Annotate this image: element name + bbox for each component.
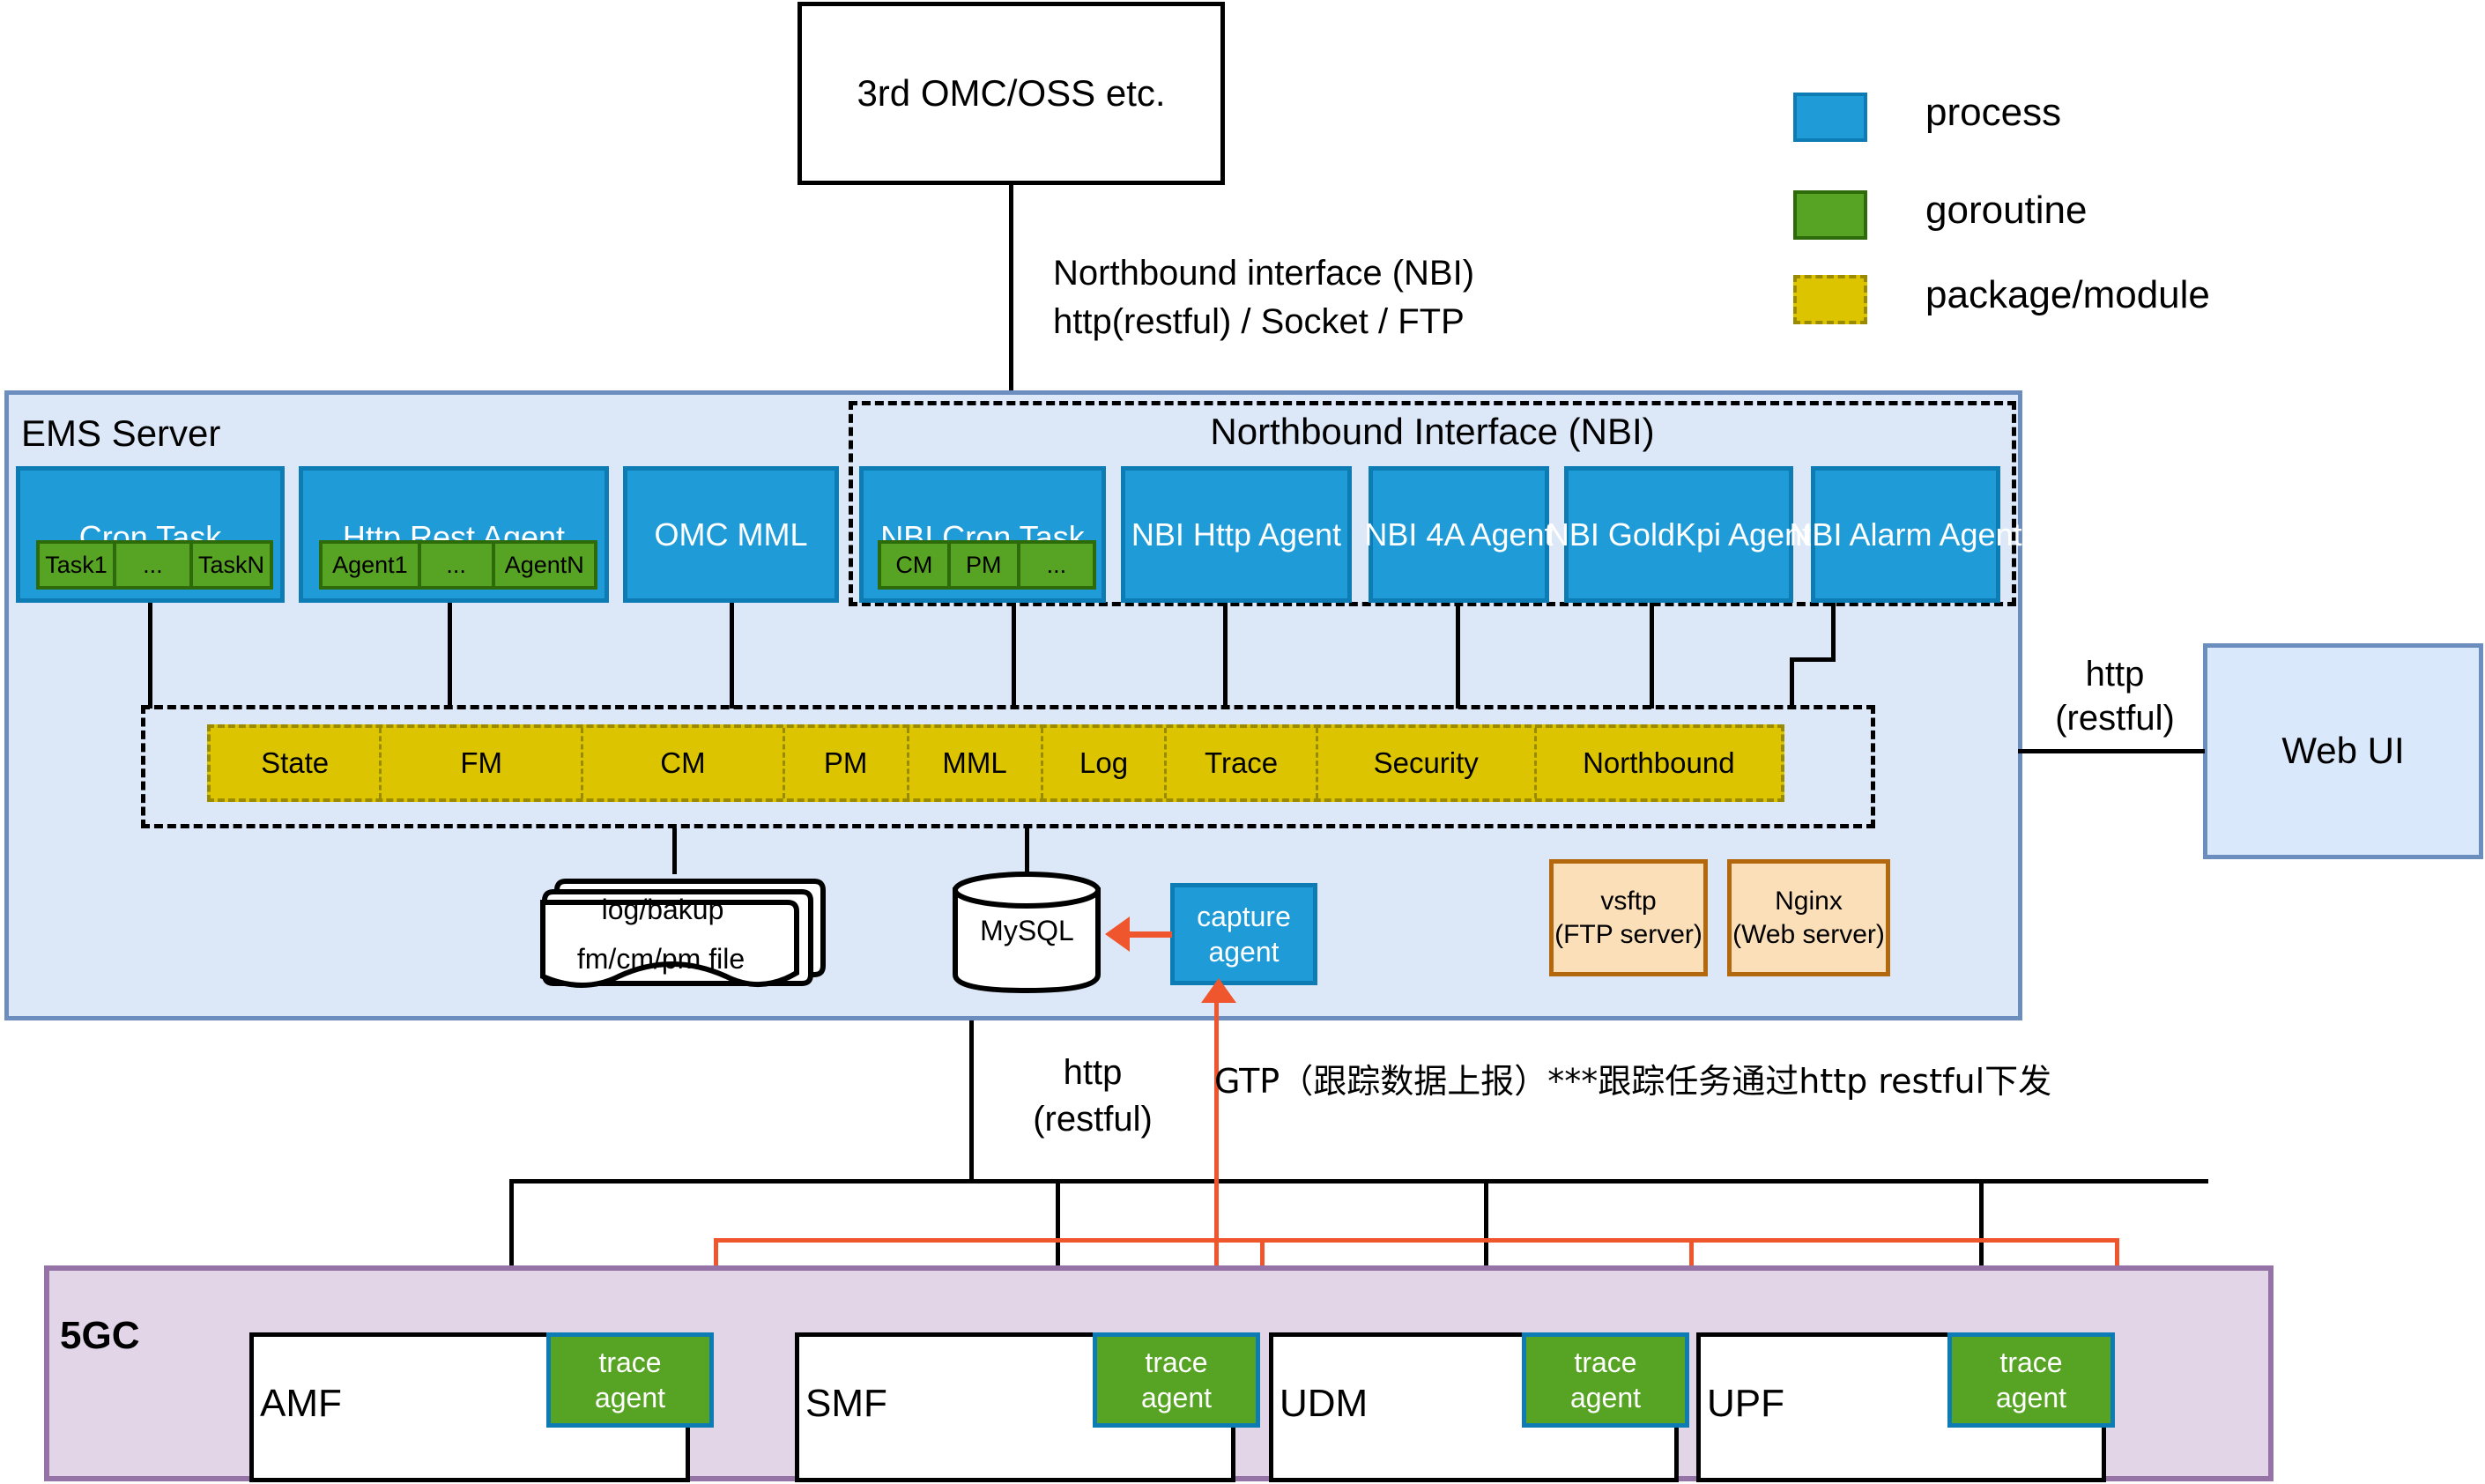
capture-agent-to-database-arrow-line <box>1130 931 1172 938</box>
goroutine-group-http-rest-agent: Agent1 ... AgentN <box>319 540 597 590</box>
trace-agent-smf-line1: trace <box>1145 1345 1207 1380</box>
connector-nbi-alarm-agent-seg2 <box>1790 657 1836 662</box>
process-nbi-alarm-agent[interactable]: NBI Alarm Agent <box>1811 466 2000 603</box>
trace-agent-udm-line2: agent <box>1570 1380 1641 1415</box>
webui-link-label-line2: (restful) <box>2027 696 2203 740</box>
module-cm[interactable]: CM <box>583 728 785 798</box>
oss-to-ems-connector <box>1009 185 1013 392</box>
module-bar: State FM CM PM MML Log Trace Security No… <box>207 724 1784 802</box>
connector-nbi-goldkpi-agent <box>1650 603 1654 709</box>
process-nbi-4a-agent[interactable]: NBI 4A Agent <box>1369 466 1549 603</box>
gtp-note-label: GTP（跟踪数据上报）***跟踪任务通过http restful下发 <box>1214 1061 2051 1103</box>
nf-label-amf: AMF <box>260 1379 342 1428</box>
goroutine-agentn[interactable]: AgentN <box>495 540 598 590</box>
legend: process goroutine package/module <box>1793 93 2340 335</box>
architecture-diagram: 3rd OMC/OSS etc. Northbound interface (N… <box>0 0 2485 1484</box>
ems-to-webui-connector <box>2018 749 2205 753</box>
goroutine-group-cron-task: Task1 ... TaskN <box>36 540 273 590</box>
module-trace[interactable]: Trace <box>1167 728 1317 798</box>
trace-agent-amf-line2: agent <box>595 1380 665 1415</box>
core-bus-horizontal <box>509 1179 2208 1183</box>
server-vsftp-line2: (FTP server) <box>1554 918 1702 952</box>
module-fm[interactable]: FM <box>382 728 583 798</box>
goroutine-cm[interactable]: CM <box>878 540 951 590</box>
process-nbi-goldkpi-agent-label: NBI GoldKpi Agent <box>1547 515 1811 554</box>
module-log[interactable]: Log <box>1043 728 1168 798</box>
server-vsftp[interactable]: vsftp (FTP server) <box>1549 859 1708 976</box>
nbi-group-title: Northbound Interface (NBI) <box>849 411 2016 453</box>
webui-link-label-line1: http <box>2027 652 2203 696</box>
legend-swatch-process <box>1793 93 1867 142</box>
legend-label-process: process <box>1925 88 2061 137</box>
connector-nbi-alarm-agent-seg1 <box>1831 603 1836 661</box>
server-vsftp-line1: vsftp <box>1600 885 1656 918</box>
module-state[interactable]: State <box>211 728 382 798</box>
nbi-link-label-line1: Northbound interface (NBI) <box>1053 251 1474 295</box>
gtp-uplink-to-capture-agent <box>1214 1003 1219 1267</box>
southbound-http-label-line2: (restful) <box>996 1097 1190 1141</box>
file-store-label-line1: log/bakup <box>530 894 795 925</box>
ems-to-core-bus-drop <box>969 1020 974 1182</box>
process-nbi-http-agent[interactable]: NBI Http Agent <box>1121 466 1352 603</box>
database-label: MySQL <box>950 915 1104 946</box>
trace-agent-upf-line1: trace <box>1999 1345 2062 1380</box>
nbi-link-label-line2: http(restful) / Socket / FTP <box>1053 300 1465 344</box>
trace-agent-amf[interactable]: trace agent <box>546 1332 714 1428</box>
third-party-oss-label: 3rd OMC/OSS etc. <box>857 70 1165 117</box>
process-nbi-http-agent-label: NBI Http Agent <box>1131 515 1341 554</box>
process-nbi-alarm-agent-label: NBI Alarm Agent <box>1789 515 2021 554</box>
connector-nbi-4a-agent <box>1456 603 1460 709</box>
connector-cron-task <box>148 603 152 709</box>
capture-agent-to-database-arrowhead <box>1105 916 1130 952</box>
goroutine-task1[interactable]: Task1 <box>36 540 116 590</box>
legend-swatch-module <box>1793 275 1867 324</box>
trace-agent-smf-line2: agent <box>1141 1380 1212 1415</box>
process-omc-mml[interactable]: OMC MML <box>623 466 839 603</box>
gtp-uplink-arrowhead <box>1201 978 1236 1003</box>
process-omc-mml-label: OMC MML <box>655 515 808 554</box>
file-store-label-line2: fm/cm/pm file <box>529 943 793 975</box>
process-cron-task[interactable]: Cron Task Task1 ... TaskN <box>16 466 285 603</box>
connector-nbi-cron-task <box>1012 603 1016 709</box>
goroutine-agent1[interactable]: Agent1 <box>319 540 421 590</box>
goroutine-ellipsis: ... <box>116 540 193 590</box>
goroutine-pm[interactable]: PM <box>951 540 1020 590</box>
trace-agent-upf-line2: agent <box>1996 1380 2066 1415</box>
connector-nbi-http-agent <box>1223 603 1228 709</box>
legend-swatch-goroutine <box>1793 190 1867 240</box>
trace-agent-udm[interactable]: trace agent <box>1522 1332 1689 1428</box>
web-ui-label: Web UI <box>2281 728 2404 775</box>
connector-omc-mml <box>730 603 734 709</box>
module-mml[interactable]: MML <box>909 728 1043 798</box>
process-nbi-goldkpi-agent[interactable]: NBI GoldKpi Agent <box>1564 466 1793 603</box>
goroutine-ellipsis: ... <box>421 540 495 590</box>
gtp-bus-horizontal <box>714 1238 2119 1243</box>
process-nbi-cron-task[interactable]: NBI Cron Task CM PM ... <box>859 466 1106 603</box>
southbound-http-label-line1: http <box>996 1050 1190 1094</box>
connector-nbi-alarm-agent-seg3 <box>1790 657 1794 709</box>
process-nbi-4a-agent-label: NBI 4A Agent <box>1364 515 1553 554</box>
connector-modules-to-database <box>1025 828 1029 872</box>
nf-label-smf: SMF <box>805 1379 887 1428</box>
core-network-title: 5GC <box>60 1311 139 1360</box>
capture-agent-label-line1: capture <box>1197 899 1291 934</box>
nf-label-upf: UPF <box>1707 1379 1784 1428</box>
process-capture-agent[interactable]: capture agent <box>1170 883 1317 985</box>
process-http-rest-agent[interactable]: Http Rest Agent Agent1 ... AgentN <box>299 466 609 603</box>
trace-agent-upf[interactable]: trace agent <box>1947 1332 2115 1428</box>
trace-agent-udm-line1: trace <box>1574 1345 1636 1380</box>
legend-label-module: package/module <box>1925 271 2210 319</box>
module-security[interactable]: Security <box>1318 728 1537 798</box>
module-pm[interactable]: PM <box>785 728 909 798</box>
goroutine-ellipsis: ... <box>1020 540 1096 590</box>
trace-agent-amf-line1: trace <box>598 1345 661 1380</box>
connector-http-rest-agent <box>448 603 452 709</box>
trace-agent-smf[interactable]: trace agent <box>1093 1332 1260 1428</box>
ems-server-title: EMS Server <box>21 411 220 457</box>
goroutine-group-nbi-cron-task: CM PM ... <box>878 540 1096 590</box>
server-nginx-line2: (Web server) <box>1732 918 1885 952</box>
legend-label-goroutine: goroutine <box>1925 186 2087 234</box>
goroutine-taskn[interactable]: TaskN <box>193 540 273 590</box>
web-ui-box[interactable]: Web UI <box>2203 643 2483 859</box>
server-nginx-line1: Nginx <box>1775 885 1843 918</box>
server-nginx[interactable]: Nginx (Web server) <box>1727 859 1890 976</box>
module-northbound[interactable]: Northbound <box>1537 728 1781 798</box>
capture-agent-label-line2: agent <box>1208 934 1279 969</box>
third-party-oss-box: 3rd OMC/OSS etc. <box>797 2 1225 185</box>
nf-label-udm: UDM <box>1280 1379 1368 1428</box>
